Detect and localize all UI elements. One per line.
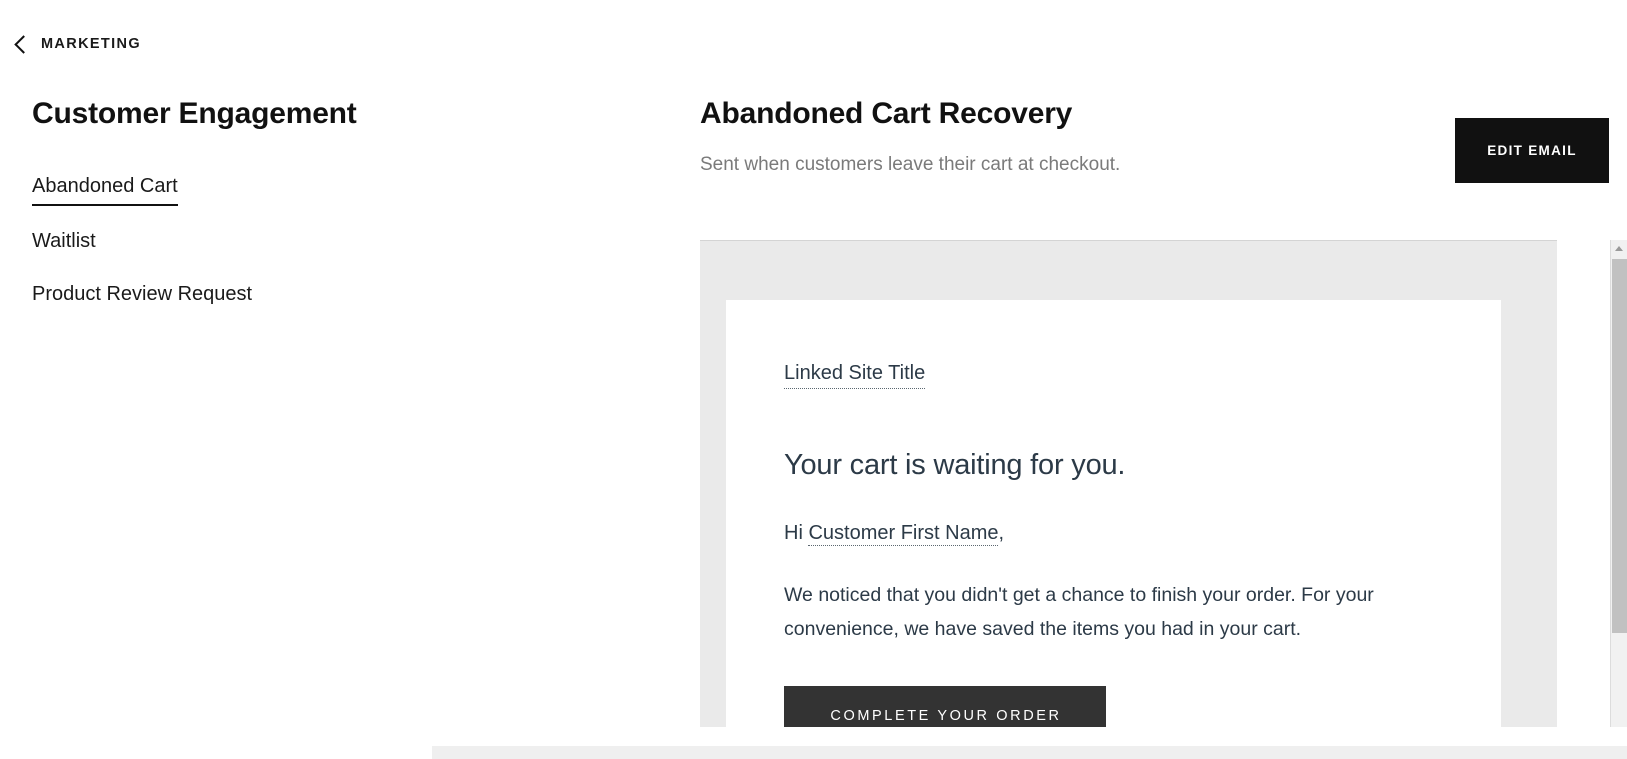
nav-row-abandoned-cart: Abandoned Cart	[32, 174, 660, 229]
nav-row-product-review-request: Product Review Request	[32, 282, 660, 335]
app-root: MARKETING Customer Engagement Abandoned …	[0, 0, 1627, 759]
back-to-marketing-button[interactable]: MARKETING	[14, 36, 141, 52]
detail-panel: Abandoned Cart Recovery Sent when custom…	[700, 96, 1627, 212]
preview-vertical-scrollbar[interactable]	[1610, 240, 1627, 727]
horizontal-scrollbar-track[interactable]	[432, 746, 1627, 759]
customer-engagement-panel: Customer Engagement Abandoned Cart Waitl…	[0, 96, 660, 335]
sidebar-item-waitlist[interactable]: Waitlist	[32, 229, 96, 259]
triangle-up-icon[interactable]	[1611, 240, 1627, 257]
page-title: Customer Engagement	[32, 96, 660, 132]
email-content: Linked Site Title Your cart is waiting f…	[726, 300, 1501, 727]
edit-email-button[interactable]: EDIT EMAIL	[1455, 118, 1609, 183]
nav-row-waitlist: Waitlist	[32, 229, 660, 282]
engagement-nav-list: Abandoned Cart Waitlist Product Review R…	[32, 174, 660, 335]
email-card: Linked Site Title Your cart is waiting f…	[726, 300, 1501, 727]
email-preview-pane: Linked Site Title Your cart is waiting f…	[700, 240, 1557, 727]
greeting-suffix: ,	[998, 522, 1004, 544]
horizontal-scrollbar-thumb[interactable]	[870, 746, 1627, 759]
email-heading: Your cart is waiting for you.	[784, 447, 1443, 483]
email-body-text: We noticed that you didn't get a chance …	[784, 579, 1424, 646]
page-horizontal-scrollbar[interactable]	[0, 746, 1627, 759]
detail-header: Abandoned Cart Recovery Sent when custom…	[700, 96, 1627, 212]
sidebar-item-product-review-request[interactable]: Product Review Request	[32, 282, 252, 312]
email-greeting: Hi Customer First Name,	[784, 520, 1443, 546]
back-nav-label: MARKETING	[41, 36, 141, 52]
vertical-scrollbar-thumb[interactable]	[1612, 259, 1627, 633]
chevron-left-icon	[14, 35, 32, 53]
sidebar-item-abandoned-cart[interactable]: Abandoned Cart	[32, 174, 178, 206]
linked-site-title-link[interactable]: Linked Site Title	[784, 360, 925, 389]
greeting-prefix: Hi	[784, 522, 808, 544]
merge-field-customer-first-name[interactable]: Customer First Name	[808, 522, 998, 546]
complete-your-order-button[interactable]: COMPLETE YOUR ORDER	[784, 686, 1106, 727]
